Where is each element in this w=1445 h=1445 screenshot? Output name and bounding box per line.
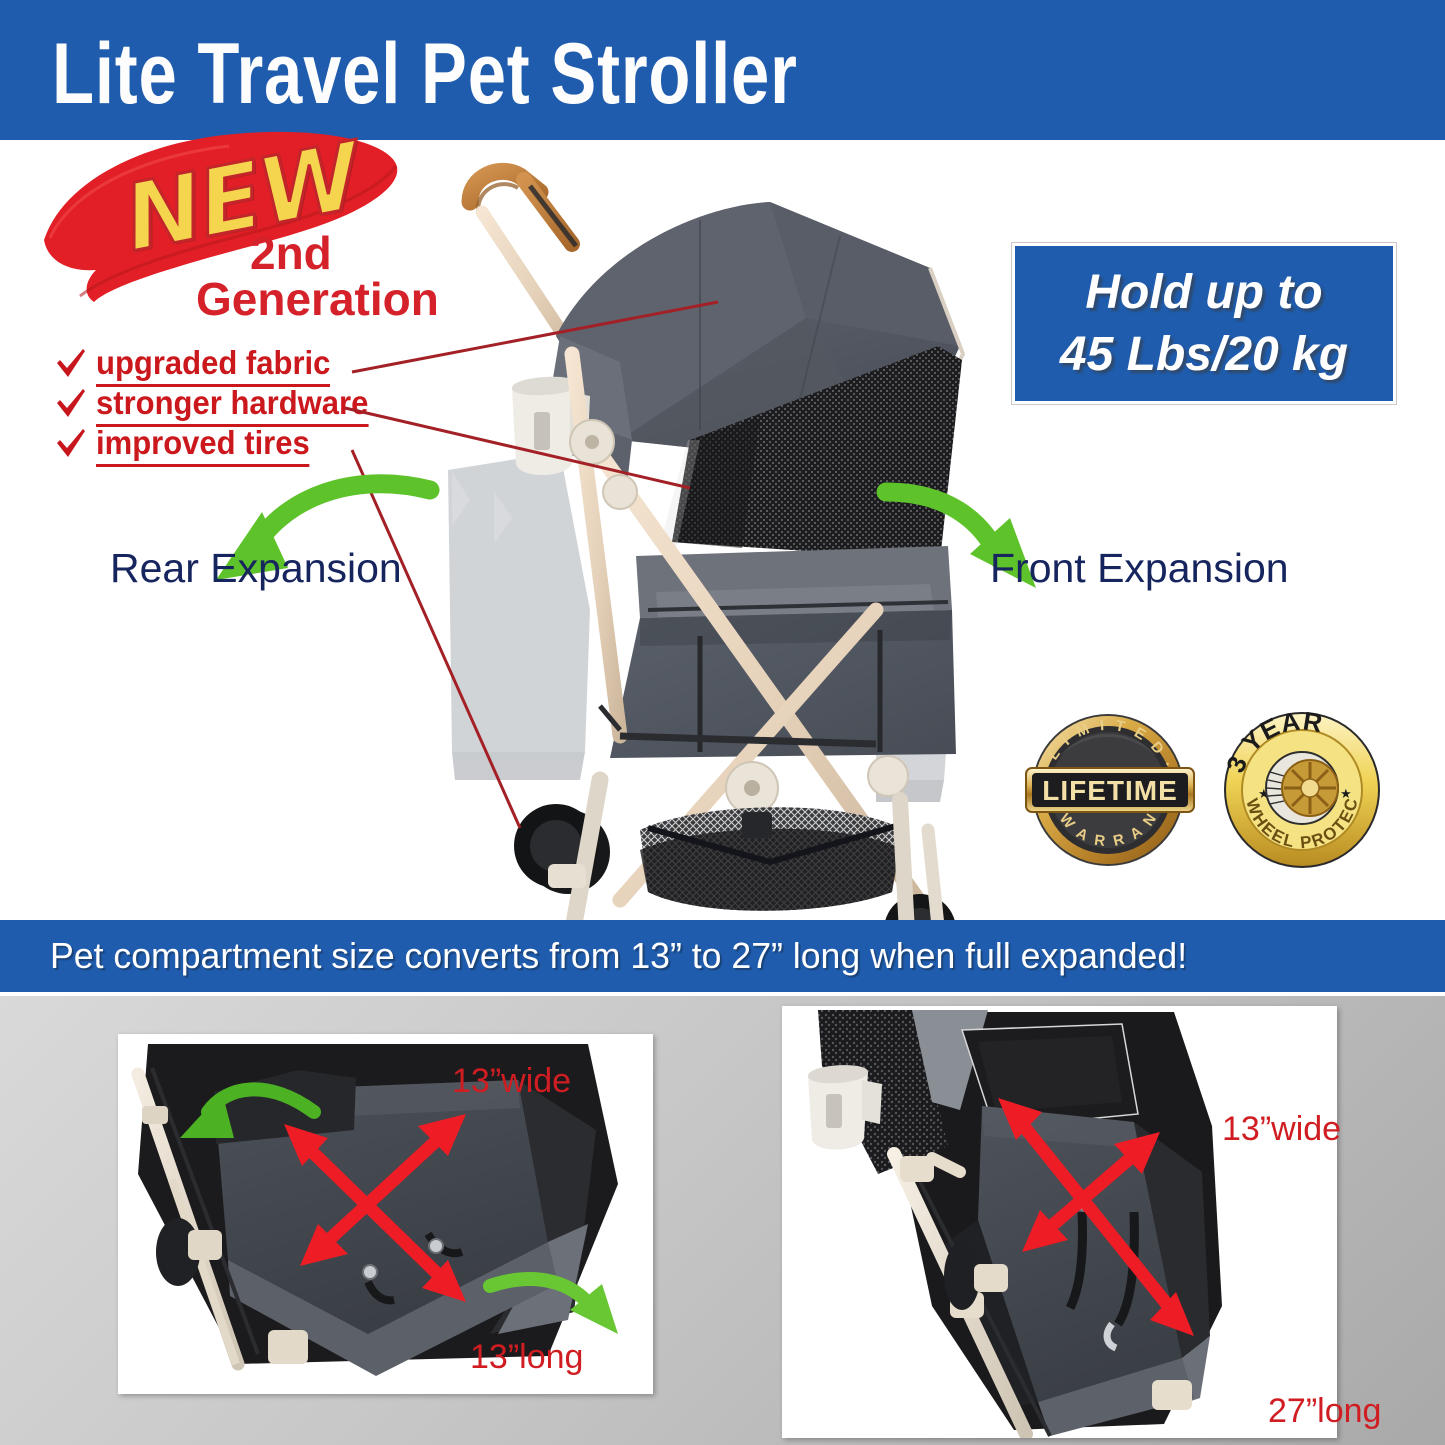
svg-text:LIFETIME: LIFETIME <box>1042 775 1178 806</box>
product-infographic: Lite Travel Pet Stroller NEW 2nd Generat… <box>0 0 1445 1445</box>
limited-lifetime-warranty-seal: · L I M I T E D · · W A R R A N T Y · LI… <box>1018 700 1194 866</box>
expanded-compartment-photo <box>782 1006 1337 1438</box>
mid-banner: Pet compartment size converts from 13” t… <box>0 920 1445 992</box>
warranty-seals: · L I M I T E D · · W A R R A N T Y · LI… <box>1018 700 1418 880</box>
right-length-label: 27”long <box>1268 1392 1381 1431</box>
capacity-line-2: 45 Lbs/20 kg <box>1060 324 1348 386</box>
right-width-label: 13”wide <box>1222 1110 1341 1149</box>
front-expansion-label: Front Expansion <box>990 545 1289 592</box>
svg-text:★: ★ <box>1340 786 1352 801</box>
capacity-line-1: Hold up to <box>1085 262 1322 324</box>
rear-expansion-label: Rear Expansion <box>110 545 402 592</box>
left-width-label: 13”wide <box>452 1062 571 1101</box>
capacity-badge: Hold up to 45 Lbs/20 kg <box>1012 243 1396 404</box>
front-wheel-2 <box>884 894 956 920</box>
page-title: Lite Travel Pet Stroller <box>52 26 1012 122</box>
bottom-comparison-section: 13”wide 13”long 13”wide 27”long <box>0 996 1445 1445</box>
mid-banner-text: Pet compartment size converts from 13” t… <box>50 935 1187 977</box>
left-length-label: 13”long <box>470 1338 583 1377</box>
